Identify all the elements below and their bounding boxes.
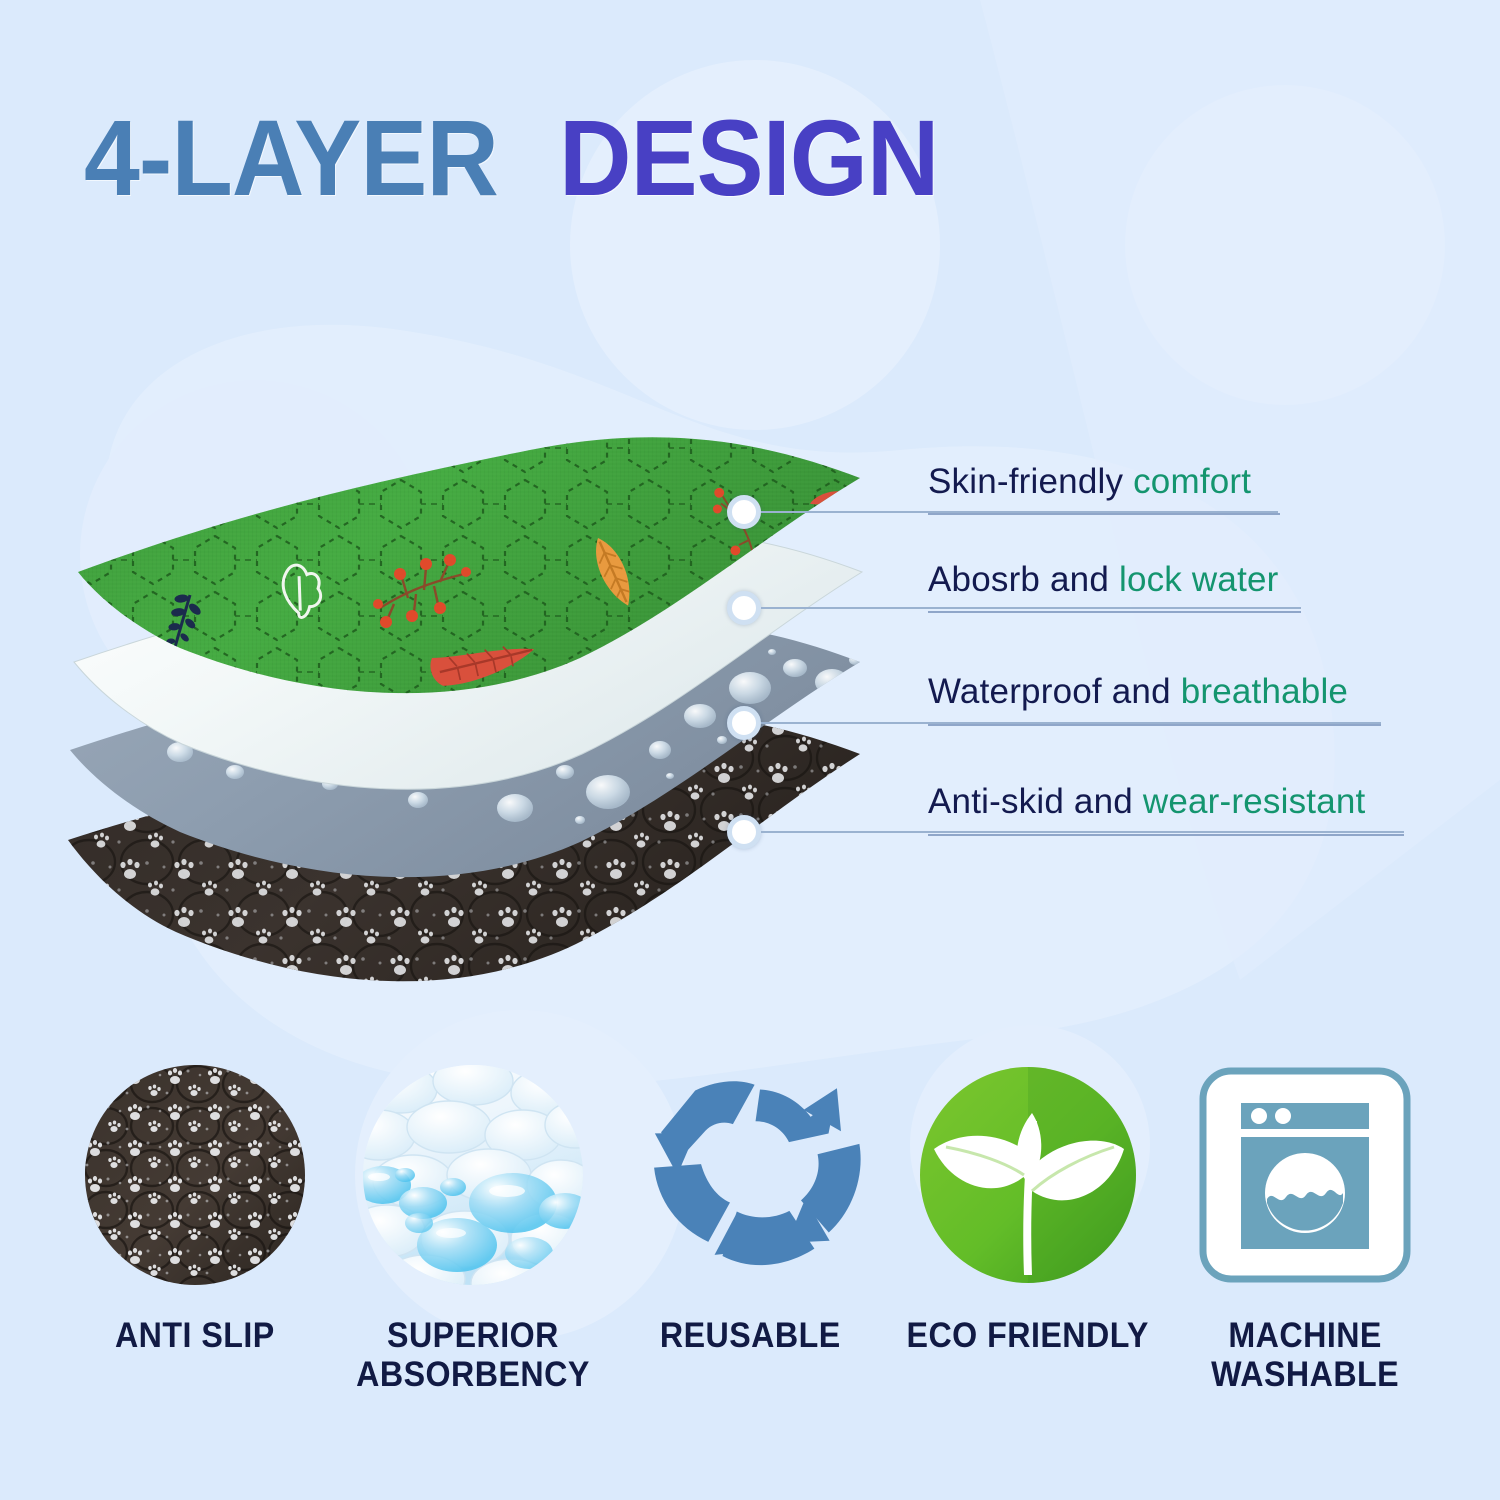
callout-label-3: Waterproof and breathable: [928, 672, 1348, 712]
feature-label-anti-slip: ANTI SLIP: [115, 1316, 275, 1355]
feature-anti-slip: ANTI SLIP: [60, 1060, 330, 1355]
washing-machine-icon: [1190, 1060, 1420, 1290]
eco-leaf-icon: [913, 1060, 1143, 1290]
anti-slip-swatch-icon: [80, 1060, 310, 1290]
title-part-layer: 4-LAYER: [84, 104, 498, 212]
callout-label-4: Anti-skid and wear-resistant: [928, 782, 1365, 822]
feature-label-absorbency: SUPERIOR ABSORBENCY: [356, 1316, 590, 1394]
feature-eco-friendly: ECO FRIENDLY: [893, 1060, 1163, 1355]
callout-underline-4: [928, 834, 1404, 836]
callout-underline-3: [928, 724, 1381, 726]
callout-marker-1[interactable]: [727, 495, 761, 529]
callout-3-dark-text: Waterproof and: [928, 672, 1171, 711]
feature-machine-washable: MACHINE WASHABLE: [1170, 1060, 1440, 1394]
callout-underline-1: [928, 513, 1280, 515]
feature-row: ANTI SLIP: [0, 1060, 1500, 1460]
callout-1-dark-text: Skin-friendly: [928, 462, 1123, 501]
callout-underline-2: [928, 611, 1301, 613]
feature-label-eco-friendly: ECO FRIENDLY: [906, 1316, 1148, 1355]
callout-2-teal-text: lock water: [1119, 560, 1279, 599]
decor-circle-2: [1125, 85, 1445, 405]
callout-label-1: Skin-friendly comfort: [928, 462, 1251, 502]
layer-stack-illustration: [60, 420, 920, 1040]
feature-reusable: REUSABLE: [615, 1060, 885, 1355]
callout-marker-3[interactable]: [727, 706, 761, 740]
infographic-page: 4-LAYERDESIGN: [0, 0, 1500, 1500]
callout-connector-2: [761, 607, 1301, 609]
layer-stack-svg: [60, 420, 920, 1040]
feature-label-machine-washable: MACHINE WASHABLE: [1211, 1316, 1399, 1394]
callout-4-teal-text: wear-resistant: [1143, 782, 1366, 821]
callout-1-teal-text: comfort: [1133, 462, 1251, 501]
feature-label-reusable: REUSABLE: [660, 1316, 841, 1355]
callout-marker-4[interactable]: [727, 815, 761, 849]
callout-connector-4: [761, 831, 1404, 833]
feature-absorbency: SUPERIOR ABSORBENCY: [338, 1060, 608, 1394]
title-part-design: DESIGN: [559, 104, 939, 212]
callout-4-dark-text: Anti-skid and: [928, 782, 1133, 821]
callout-label-2: Abosrb and lock water: [928, 560, 1279, 600]
callout-3-teal-text: breathable: [1181, 672, 1348, 711]
recycle-icon: [635, 1060, 865, 1290]
absorbency-swatch-icon: [358, 1060, 588, 1290]
callout-marker-2[interactable]: [727, 591, 761, 625]
page-title: 4-LAYERDESIGN: [84, 104, 967, 212]
callout-2-dark-text: Abosrb and: [928, 560, 1109, 599]
